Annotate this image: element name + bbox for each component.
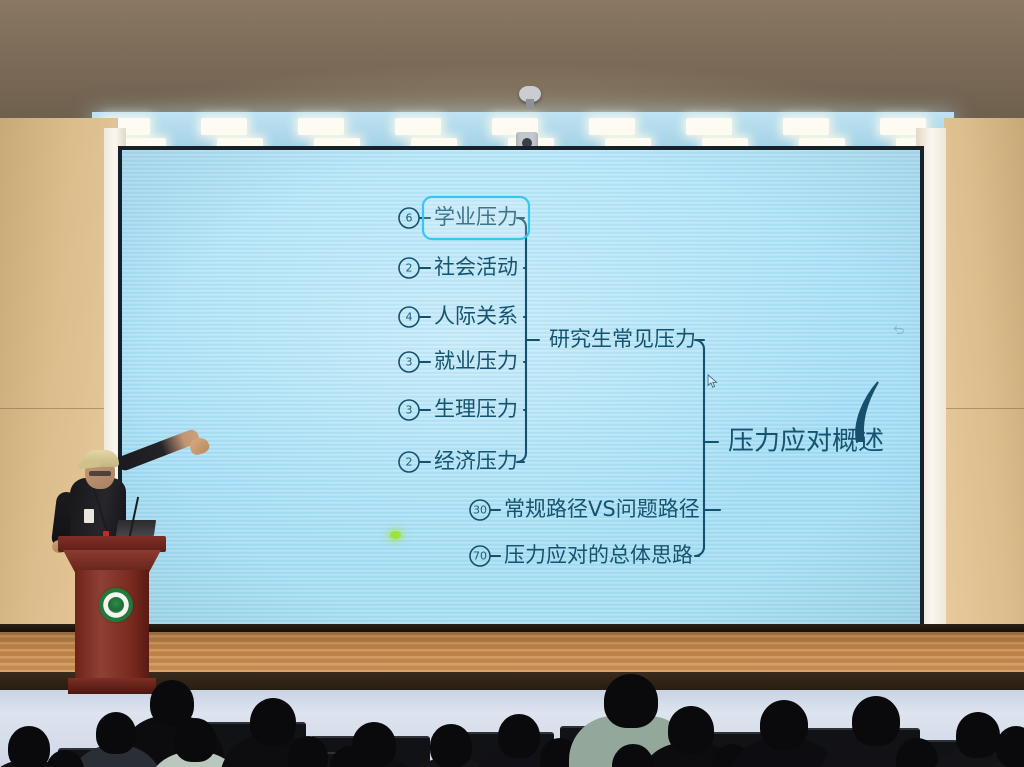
lecture-hall-scene: 6243323070 学业压力社会活动人际关系就业压力生理压力经济压力研究生常见…	[0, 0, 1024, 767]
audience-member-head	[498, 714, 540, 758]
ceiling-light-panel	[298, 118, 344, 135]
audience-member-head	[96, 712, 136, 754]
audience-member-head	[668, 706, 714, 754]
ceiling-light-panel	[686, 118, 732, 135]
speaker-badge	[84, 509, 94, 523]
ceiling-glow	[0, 0, 1024, 122]
audience-member-head	[8, 726, 50, 767]
audience-member-head	[430, 724, 472, 767]
ceiling-light-panel	[783, 118, 829, 135]
wall-right	[944, 118, 1024, 678]
led-screen[interactable]: 6243323070 学业压力社会活动人际关系就业压力生理压力经济压力研究生常见…	[122, 150, 920, 626]
audience-member-head	[604, 674, 658, 728]
projector-stem	[526, 99, 534, 109]
audience-member-head	[250, 698, 296, 746]
university-emblem-icon	[99, 588, 133, 622]
podium-laptop	[116, 520, 156, 536]
audience	[0, 640, 1024, 767]
led-screen-frame: 6243323070 学业压力社会活动人际关系就业压力生理压力经济压力研究生常见…	[118, 146, 924, 630]
ceiling-light-panel	[201, 118, 247, 135]
ceiling-light-panel	[395, 118, 441, 135]
arrow-cursor	[707, 374, 718, 389]
speaker-glasses	[89, 471, 111, 476]
laser-pointer-dot	[390, 531, 401, 539]
screen-vignette	[122, 150, 920, 626]
audience-member-head	[996, 726, 1024, 767]
audience-member-head	[174, 718, 216, 762]
audience-member-head	[760, 700, 808, 750]
ceiling-light-panel	[589, 118, 635, 135]
audience-member-head	[956, 712, 1000, 758]
audience-member-head	[852, 696, 900, 746]
